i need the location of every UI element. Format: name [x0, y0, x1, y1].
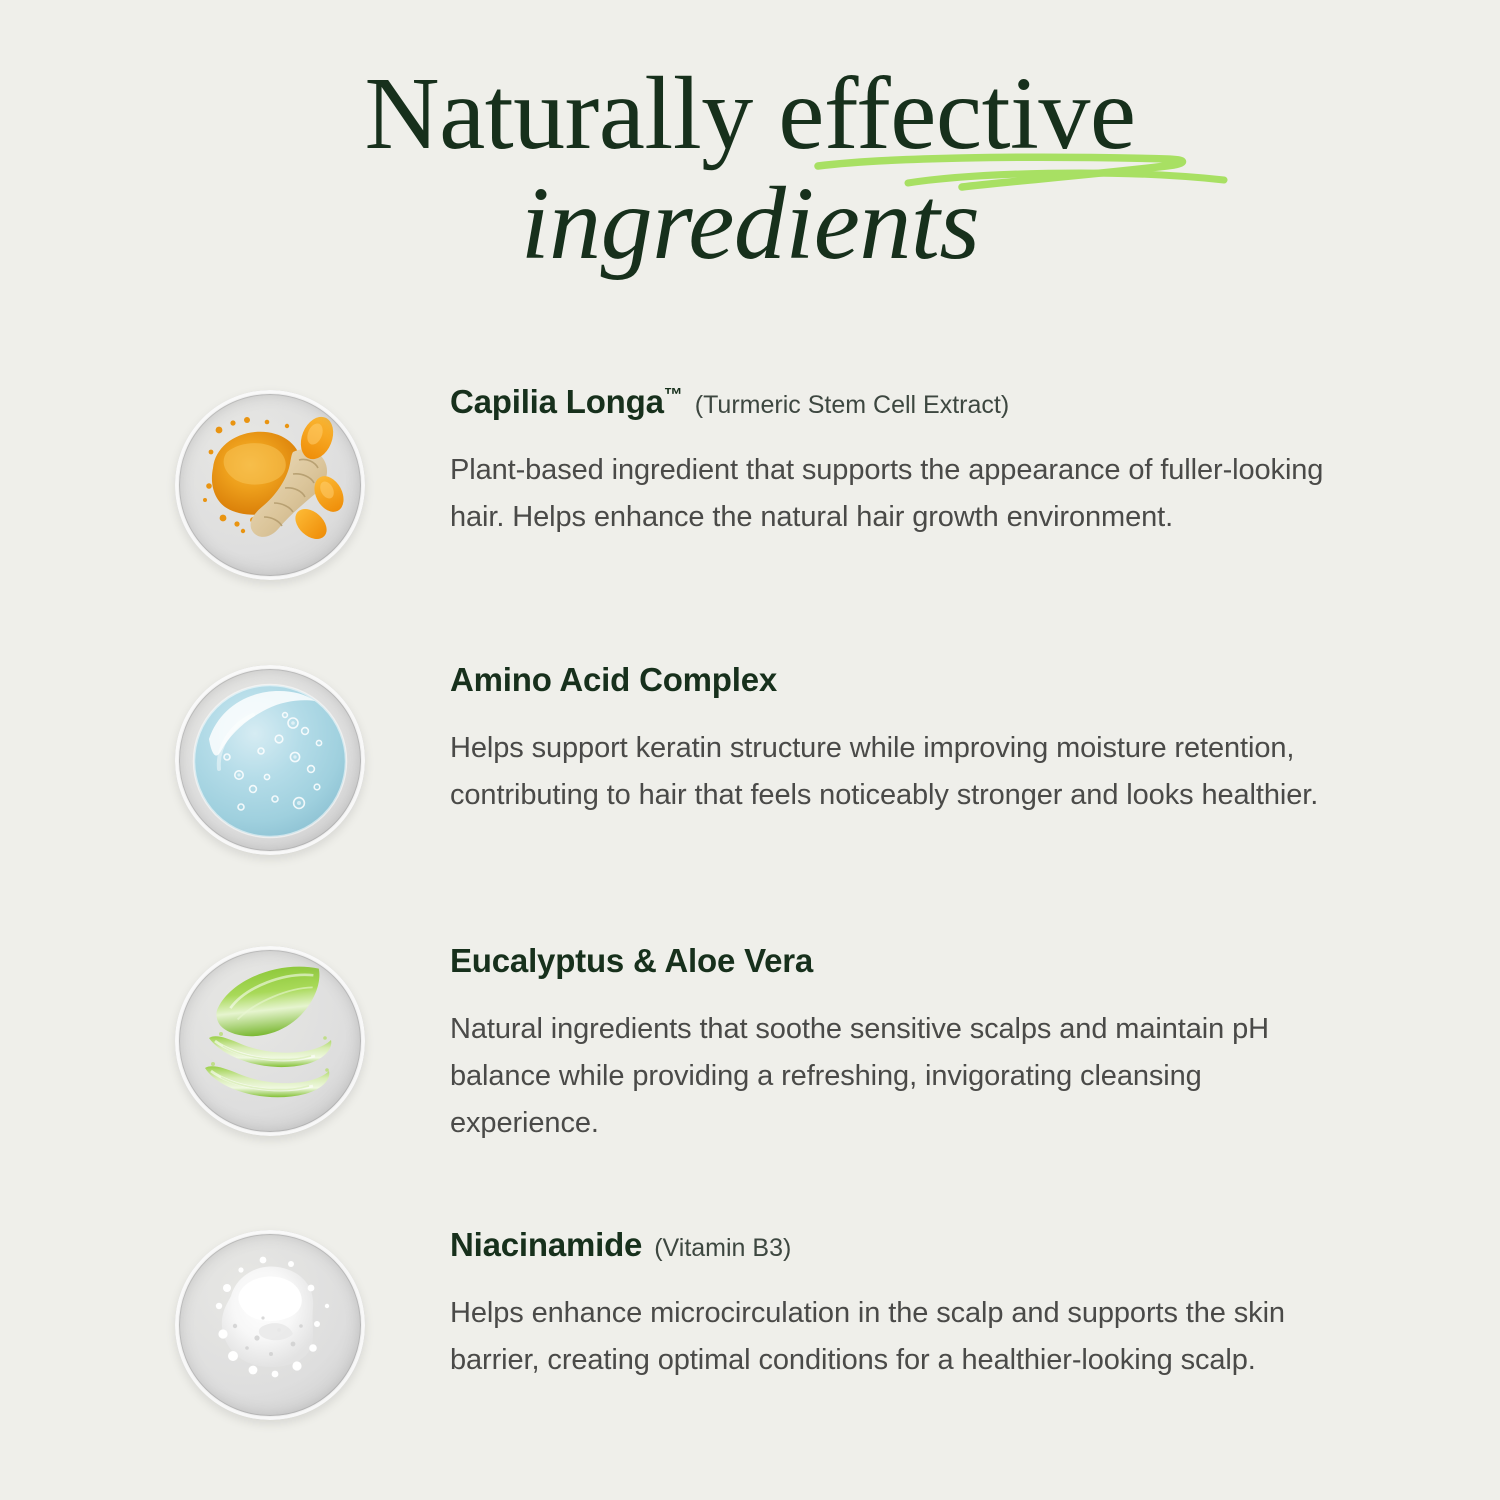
ingredient-row: Niacinamide(Vitamin B3) Helps enhance mi…: [0, 1218, 1500, 1458]
ingredient-title: Niacinamide(Vitamin B3): [450, 1226, 1330, 1264]
ingredient-text-block: Eucalyptus & Aloe Vera Natural ingredien…: [450, 934, 1330, 1147]
ingredient-title: Amino Acid Complex: [450, 661, 1330, 699]
ingredient-list: Capilia Longa™(Turmeric Stem Cell Extrac…: [0, 375, 1500, 1458]
ingredient-subtitle: (Vitamin B3): [654, 1234, 791, 1262]
petri-dish-aloe-vera-slices-icon: [175, 946, 365, 1136]
ingredient-title: Eucalyptus & Aloe Vera: [450, 942, 1330, 980]
ingredient-title: Capilia Longa™(Turmeric Stem Cell Extrac…: [450, 383, 1330, 421]
ingredient-row: Eucalyptus & Aloe Vera Natural ingredien…: [0, 934, 1500, 1218]
heading-line-1-text: Naturally effective: [364, 56, 1135, 171]
ingredient-description: Helps enhance microcirculation in the sc…: [450, 1290, 1330, 1384]
petri-dish-blue-gel-icon: [175, 665, 365, 855]
petri-dish-white-powder-icon: [175, 1230, 365, 1420]
ingredient-text-block: Amino Acid Complex Helps support keratin…: [450, 653, 1330, 819]
ingredient-description: Plant-based ingredient that supports the…: [450, 447, 1330, 541]
heading-line-1: Naturally effective: [360, 62, 1139, 166]
ingredient-text-block: Capilia Longa™(Turmeric Stem Cell Extrac…: [450, 375, 1330, 541]
ingredient-title-main: Eucalyptus & Aloe Vera: [450, 942, 813, 979]
ingredient-description: Helps support keratin structure while im…: [450, 725, 1330, 819]
petri-dish-turmeric-powder-and-root-icon: [175, 390, 365, 580]
hero-heading-block: Naturally effective ingredients: [0, 62, 1500, 276]
ingredient-row: Capilia Longa™(Turmeric Stem Cell Extrac…: [0, 375, 1500, 653]
ingredient-title-main: Niacinamide: [450, 1226, 642, 1263]
ingredient-text-block: Niacinamide(Vitamin B3) Helps enhance mi…: [450, 1218, 1330, 1384]
ingredient-title-main: Amino Acid Complex: [450, 661, 777, 698]
ingredient-title-main: Capilia Longa: [450, 383, 664, 420]
ingredient-row: Amino Acid Complex Helps support keratin…: [0, 653, 1500, 934]
trademark-symbol: ™: [664, 385, 683, 406]
ingredient-description: Natural ingredients that soothe sensitiv…: [450, 1006, 1330, 1147]
heading-line-2: ingredients: [0, 172, 1500, 276]
ingredients-infographic: Naturally effective ingredients: [0, 0, 1500, 1500]
ingredient-subtitle: (Turmeric Stem Cell Extract): [695, 391, 1009, 419]
